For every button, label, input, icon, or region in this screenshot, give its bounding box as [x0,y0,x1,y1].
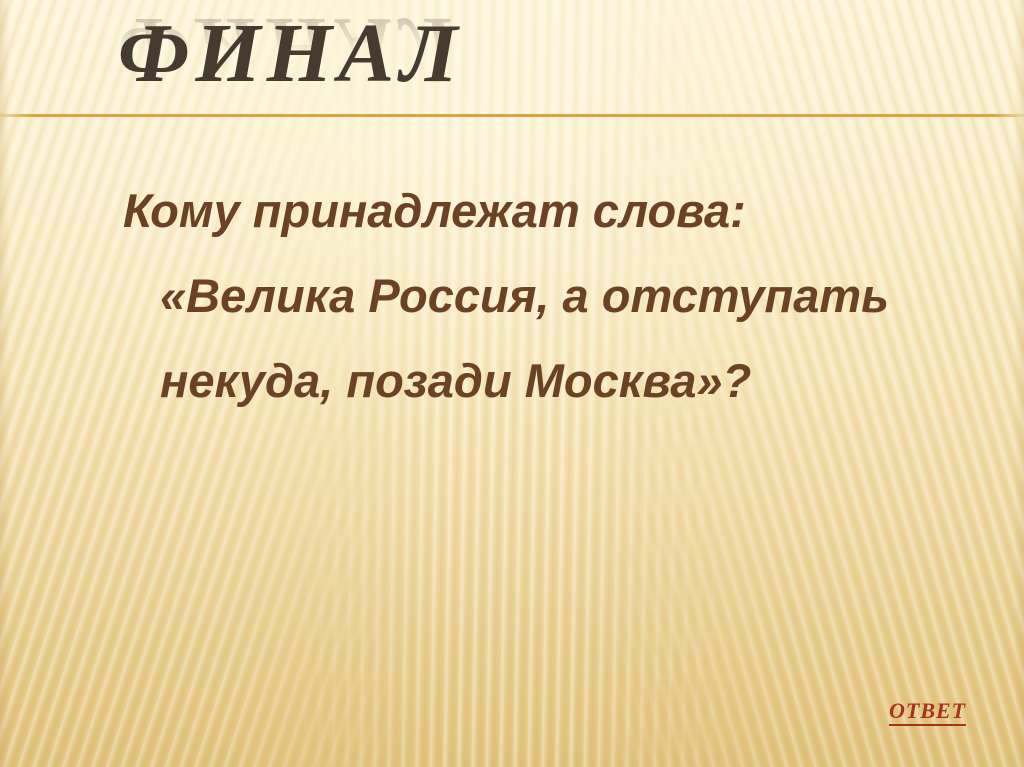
answer-link[interactable]: ОТВЕТ [889,699,966,726]
question-line-2: «Велика Россия, а отступать [123,253,953,338]
presentation-slide: ФИНАЛ ФИНАЛ Кому принадлежат слова: «Вел… [0,0,1024,767]
question-line-1: Кому принадлежат слова: [123,168,953,253]
slide-title-area: ФИНАЛ ФИНАЛ [118,6,898,156]
slide-title: ФИНАЛ [118,6,898,102]
title-divider-rule [0,114,1024,117]
question-line-3: некуда, позади Москва»? [123,338,953,423]
question-text-block: Кому принадлежат слова: «Велика Россия, … [123,168,953,423]
